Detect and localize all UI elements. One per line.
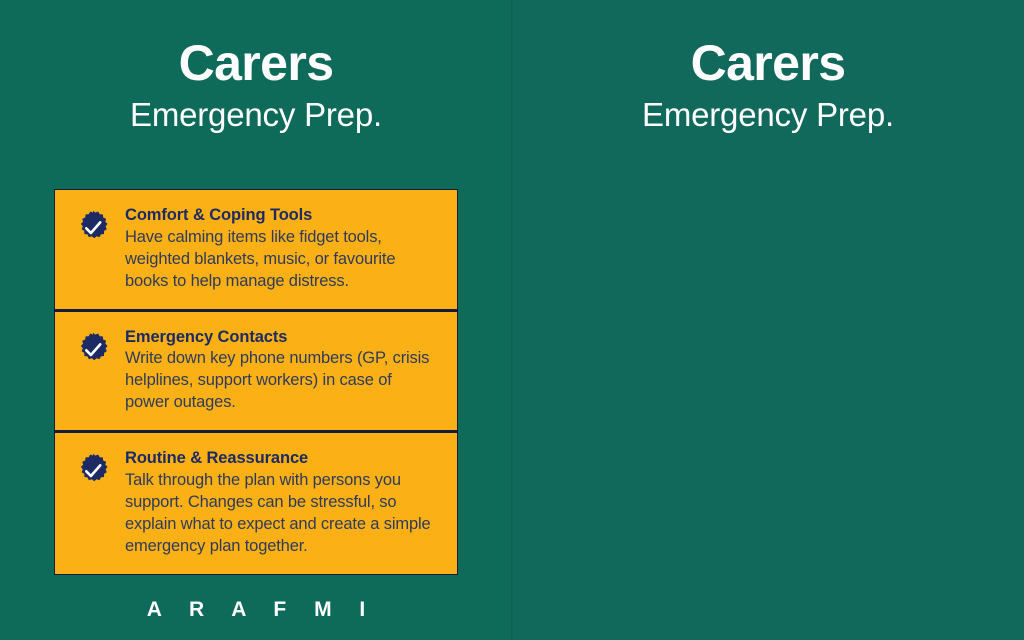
right-panel: Carers Emergency Prep. Medication & Esse… (512, 0, 1024, 640)
left-card-stack: Comfort & Coping Tools Have calming item… (54, 189, 458, 575)
list-item-title: Comfort & Coping Tools (125, 206, 439, 226)
check-badge-icon (75, 453, 111, 489)
infographic-canvas: Carers Emergency Prep. Comfort & Coping … (0, 0, 1024, 640)
arafmi-logo: A R A F M I (0, 598, 512, 622)
list-item-description: Have calming items like fidget tools, we… (125, 227, 439, 293)
page-subtitle: Emergency Prep. (0, 97, 512, 133)
page-subtitle: Emergency Prep. (512, 97, 1024, 133)
list-item-text: Emergency Contacts Write down key phone … (125, 328, 439, 415)
list-item[interactable]: Comfort & Coping Tools Have calming item… (55, 190, 457, 312)
left-panel-header: Carers Emergency Prep. (0, 0, 512, 133)
list-item-title: Routine & Reassurance (125, 449, 439, 469)
right-panel-header: Carers Emergency Prep. (512, 0, 1024, 133)
list-item-text: Comfort & Coping Tools Have calming item… (125, 206, 439, 293)
list-item-text: Routine & Reassurance Talk through the p… (125, 449, 439, 558)
list-item[interactable]: Emergency Contacts Write down key phone … (55, 312, 457, 434)
list-item-description: Talk through the plan with persons you s… (125, 470, 439, 558)
check-badge-icon (75, 210, 111, 246)
left-panel: Carers Emergency Prep. Comfort & Coping … (0, 0, 512, 640)
list-item[interactable]: Routine & Reassurance Talk through the p… (55, 433, 457, 574)
page-title: Carers (0, 38, 512, 89)
check-badge-icon (75, 332, 111, 368)
page-title: Carers (512, 38, 1024, 89)
list-item-description: Write down key phone numbers (GP, crisis… (125, 348, 439, 414)
list-item-title: Emergency Contacts (125, 328, 439, 348)
